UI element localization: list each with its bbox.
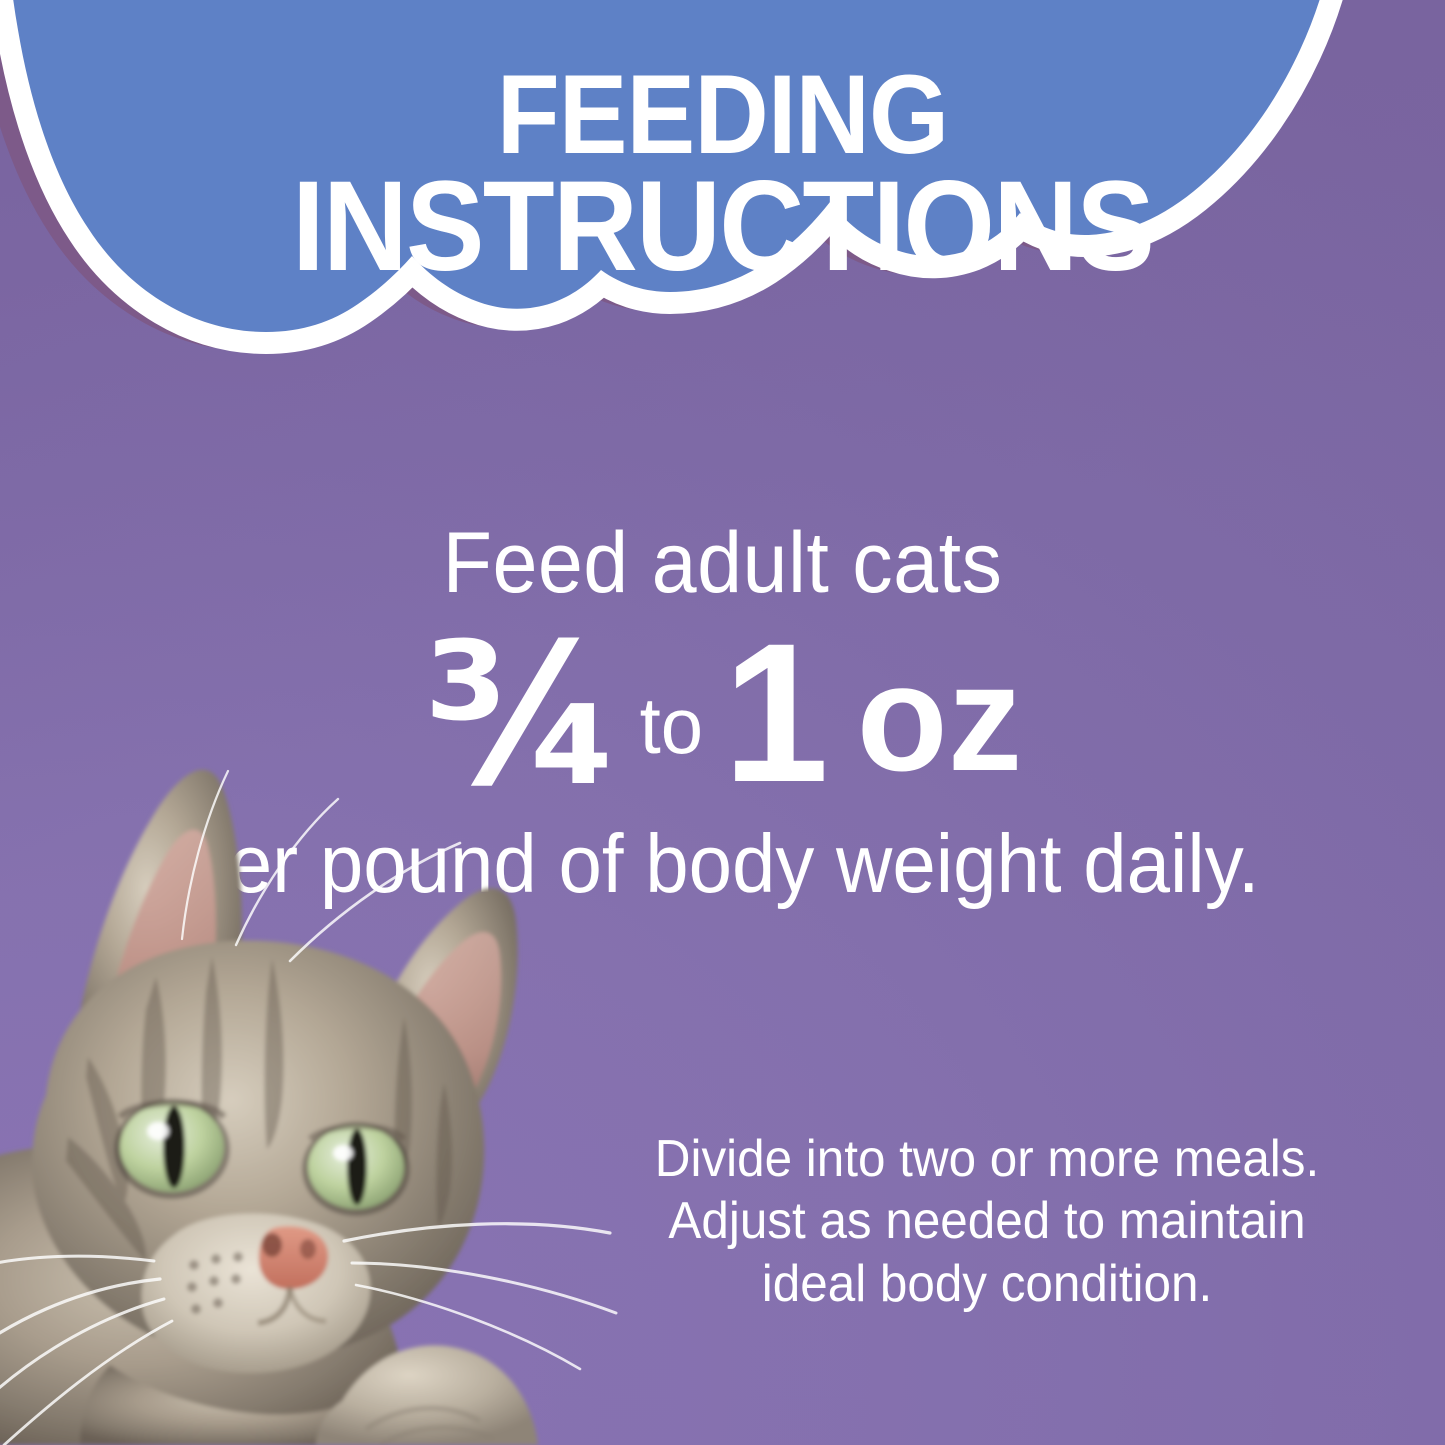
amount-quantity: 1 xyxy=(723,630,827,796)
instructions-copy: Feed adult cats ¾ to 1 oz per pound of b… xyxy=(0,520,1445,905)
cloud-banner-shape xyxy=(0,0,1445,540)
footnote-line-2: Adjust as needed to maintain xyxy=(636,1190,1339,1252)
feeding-amount-row: ¾ to 1 oz xyxy=(0,624,1445,796)
instructions-tail-line: per pound of body weight daily. xyxy=(43,822,1401,905)
footnote-line-1: Divide into two or more meals. xyxy=(636,1128,1339,1190)
amount-unit: oz xyxy=(857,642,1022,796)
amount-fraction: ¾ xyxy=(423,630,616,802)
amount-connector: to xyxy=(640,686,703,796)
instructions-lead-line: Feed adult cats xyxy=(43,520,1401,606)
feeding-instructions-panel: FEEDING INSTRUCTIONS Feed adult cats ¾ t… xyxy=(0,0,1445,1445)
footnote-line-3: ideal body condition. xyxy=(636,1253,1339,1315)
footnote-block: Divide into two or more meals. Adjust as… xyxy=(636,1128,1339,1315)
